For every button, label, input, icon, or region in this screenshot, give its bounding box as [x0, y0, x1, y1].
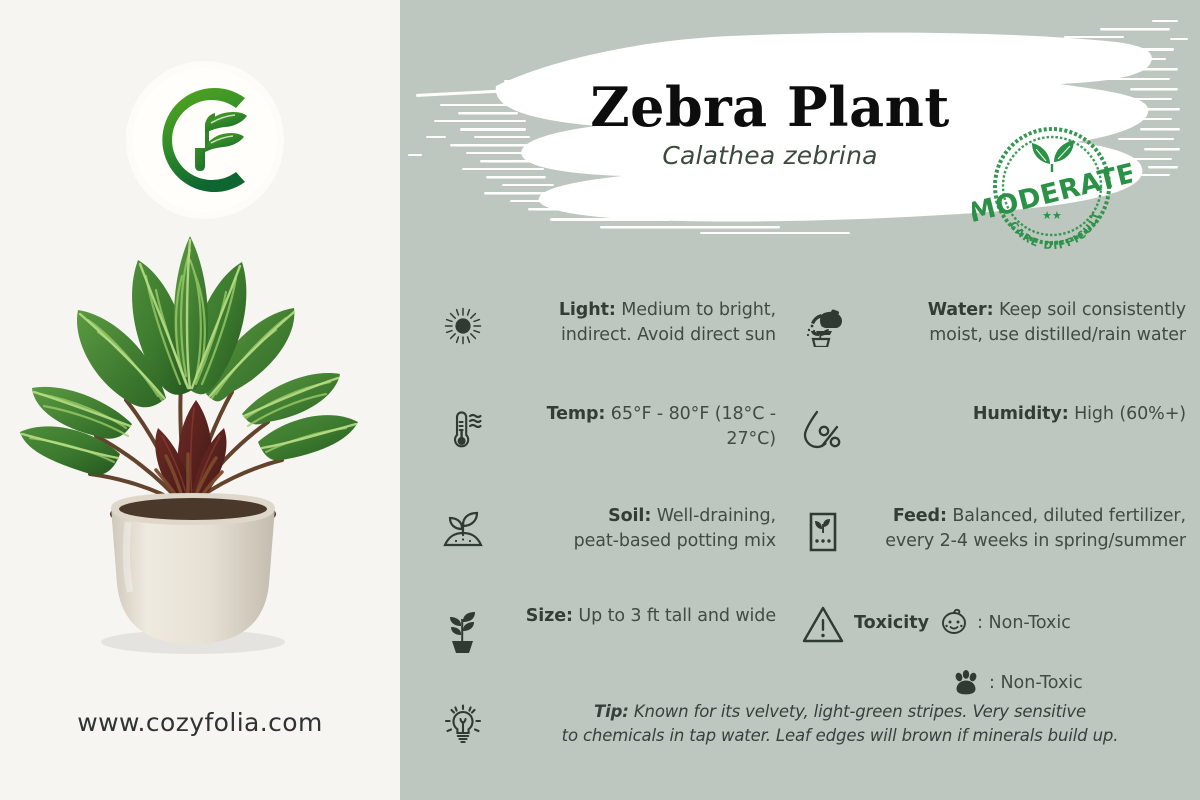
potted-plant-icon — [440, 606, 486, 658]
warning-triangle-icon — [800, 598, 846, 650]
brand-logo[interactable] — [125, 60, 285, 220]
left-panel: www.cozyfolia.com — [0, 0, 400, 800]
care-text-humidity: Humidity: High (60%+) — [846, 402, 1186, 427]
care-grid: Light: Medium to bright, indirect. Avoid… — [440, 284, 1200, 684]
care-value-light-line2: indirect. Avoid direct sun — [561, 325, 776, 345]
care-value-light-line1: Medium to bright, — [621, 300, 776, 320]
care-item-soil: Soil: Well-draining, peat-based potting … — [440, 504, 790, 558]
care-value-feed-line2: every 2-4 weeks in spring/summer — [885, 531, 1186, 551]
tip-line1: Known for its velvety, light-green strip… — [634, 702, 1086, 721]
care-label-size: Size: — [526, 606, 573, 626]
care-value-temp: 65°F - 80°F (18°C - 27°C) — [611, 404, 776, 449]
site-url[interactable]: www.cozyfolia.com — [0, 708, 400, 737]
tip-label: Tip: — [594, 702, 629, 721]
care-text-light: Light: Medium to bright, indirect. Avoid… — [486, 298, 776, 348]
care-text-feed: Feed: Balanced, diluted fertilizer, ever… — [846, 504, 1186, 554]
care-value-feed-line1: Balanced, diluted fertilizer, — [952, 506, 1186, 526]
care-item-size: Size: Up to 3 ft tall and wide — [440, 604, 790, 658]
care-item-humidity: Humidity: High (60%+) — [800, 402, 1200, 456]
tip-section: Tip: Known for its velvety, light-green … — [440, 700, 1200, 750]
care-item-feed: Feed: Balanced, diluted fertilizer, ever… — [800, 504, 1200, 558]
tip-line2: to chemicals in tap water. Leaf edges wi… — [562, 726, 1119, 745]
lightbulb-icon — [440, 700, 486, 750]
sun-icon — [440, 300, 486, 352]
care-label-feed: Feed: — [893, 506, 947, 526]
care-value-soil-line2: peat-based potting mix — [574, 531, 776, 551]
zebra-plant-illustration-icon — [10, 232, 370, 662]
care-value-water-line2: moist, use distilled/rain water — [929, 325, 1186, 345]
paw-print-icon — [950, 668, 982, 698]
humidity-drop-icon — [800, 404, 846, 456]
seedling-soil-icon — [440, 506, 486, 558]
toxicity-pet-value: : Non-Toxic — [989, 673, 1083, 693]
care-text-water: Water: Keep soil consistently moist, use… — [846, 298, 1186, 348]
care-value-humidity: High (60%+) — [1074, 404, 1186, 424]
care-label-soil: Soil: — [608, 506, 651, 526]
tip-text: Tip: Known for its velvety, light-green … — [486, 700, 1200, 748]
cozyfolia-leaf-c-logo-icon — [125, 60, 285, 220]
care-label-water: Water: — [928, 300, 994, 320]
difficulty-stamp-badge: MODERATE ★★ CARE DIFFICULTY — [972, 122, 1132, 254]
care-label-humidity: Humidity: — [973, 404, 1069, 424]
care-item-light: Light: Medium to bright, indirect. Avoid… — [440, 298, 790, 352]
toxicity-baby-value: : Non-Toxic — [977, 613, 1071, 633]
care-value-size: Up to 3 ft tall and wide — [578, 606, 776, 626]
care-value-soil-line1: Well-draining, — [657, 506, 776, 526]
care-text-soil: Soil: Well-draining, peat-based potting … — [486, 504, 776, 554]
plant-care-infographic: www.cozyfolia.com — [0, 0, 1200, 800]
care-item-water: Water: Keep soil consistently moist, use… — [800, 298, 1200, 352]
thermometer-icon — [440, 404, 486, 456]
stamp-stars: ★★ — [1042, 209, 1062, 222]
care-item-toxicity: Toxicity — [800, 596, 1200, 698]
care-item-temp: Temp: 65°F - 80°F (18°C - 27°C) — [440, 402, 790, 456]
baby-face-icon — [938, 608, 970, 638]
zebra-plant-photo — [10, 232, 370, 662]
right-panel: Zebra Plant Calathea zebrina MODERATE — [400, 0, 1200, 800]
watering-can-icon — [800, 300, 846, 352]
care-value-water-line1: Keep soil consistently — [999, 300, 1186, 320]
care-text-size: Size: Up to 3 ft tall and wide — [486, 604, 776, 629]
care-label-temp: Temp: — [547, 404, 606, 424]
care-text-temp: Temp: 65°F - 80°F (18°C - 27°C) — [486, 402, 776, 452]
fertilizer-bag-icon — [800, 506, 846, 558]
care-label-light: Light: — [559, 300, 616, 320]
toxicity-label: Toxicity — [854, 613, 929, 633]
